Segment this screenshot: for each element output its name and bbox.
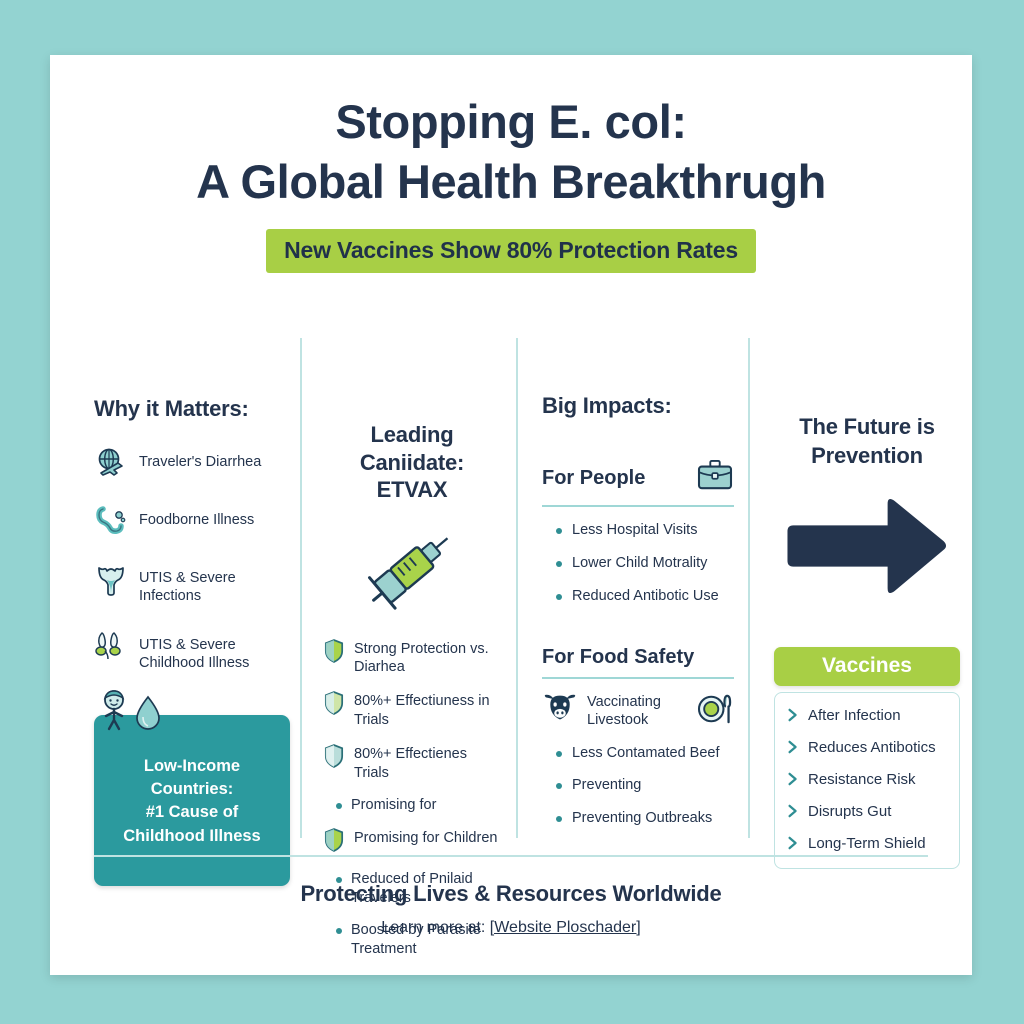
list-item: Preventing Outbreaks [542, 809, 734, 828]
column-leading-candidate: Leading Caniidate: ETVAX [300, 338, 516, 838]
footer-learn-more: Learn more at: [Website Ploschader] [94, 919, 928, 937]
cow-icon [542, 693, 578, 728]
vaccines-card: After Infection Reduces Antibotics Resis… [774, 692, 960, 869]
bullet-dot-icon [556, 561, 562, 567]
list-item: Less Contamated Beef [542, 744, 734, 763]
why-it-matters-heading: Why it Matters: [94, 396, 282, 422]
future-heading: The Future is Prevention [774, 413, 960, 470]
future-heading-line1: The Future is [774, 413, 960, 442]
list-item[interactable]: Disrupts Gut [787, 803, 949, 824]
list-item-label: 80%+ Effectiuness in Trials [354, 691, 500, 730]
shield-icon [324, 828, 344, 857]
footer-learn-more-prefix: Learn more at: [381, 919, 490, 936]
chevron-right-icon [787, 707, 799, 728]
callout-line2: #1 Cause of [108, 801, 276, 824]
list-item-label: Less Contamated Beef [572, 744, 720, 763]
syringe-illustration [324, 516, 500, 625]
list-item-label: Resistance Risk [808, 771, 916, 789]
chevron-right-icon [787, 771, 799, 792]
leading-candidate-heading: Leading Caniidate: ETVAX [324, 421, 500, 504]
list-item[interactable]: Reduces Antibotics [787, 739, 949, 760]
list-item-label: Vaccinating Livestook [587, 693, 687, 730]
content-columns: Why it Matters: Traveler's Diarrhea [50, 338, 972, 838]
callout-line1: Low-Income Countries: [108, 755, 276, 802]
for-food-safety-heading: For Food Safety [542, 646, 734, 669]
column-why-it-matters: Why it Matters: Traveler's Diarrhea [50, 338, 300, 838]
right-arrow-icon [783, 492, 951, 605]
list-item-label: Disrupts Gut [808, 803, 891, 821]
plate-fork-icon [696, 693, 734, 730]
bullet-dot-icon [556, 528, 562, 534]
subtitle-banner: New Vaccines Show 80% Protection Rates [50, 229, 972, 273]
list-item: Promising for Children [324, 828, 500, 857]
list-item: Reduced Antibotic Use [542, 587, 734, 606]
list-item: Foodborne Illness [94, 504, 282, 538]
list-item: 80%+ Effectiuness in Trials [324, 691, 500, 730]
bladder-icon [94, 562, 128, 596]
list-item[interactable]: After Infection [787, 707, 949, 728]
vaccines-badge: Vaccines [774, 647, 960, 686]
list-item: Strong Protection vs. Diarhea [324, 639, 500, 678]
callout-icons [98, 689, 162, 738]
water-drop-icon [134, 695, 162, 738]
page-title-line1: Stopping E. col: [50, 97, 972, 147]
list-item-label: Lower Child Motrality [572, 554, 707, 573]
leading-candidate-heading-line2: ETVAX [324, 476, 500, 504]
globe-plane-icon [94, 446, 128, 480]
list-item: Less Hospital Visits [542, 521, 734, 540]
list-item-label: Reduces Antibotics [808, 739, 936, 757]
column-future-is-prevention: The Future is Prevention Vaccines After … [748, 338, 972, 838]
bullet-dot-icon [556, 751, 562, 757]
arrow-illustration [774, 492, 960, 605]
list-item-label: Less Hospital Visits [572, 521, 697, 540]
syringe-icon [360, 516, 464, 625]
footer-divider [94, 855, 928, 857]
list-item: 80%+ Effectienes Trials [324, 744, 500, 783]
list-item-label: Foodborne Illness [139, 504, 254, 529]
subtitle-text: New Vaccines Show 80% Protection Rates [266, 229, 756, 273]
list-item: Preventing [542, 776, 734, 795]
header: Stopping E. col: A Global Health Breakth… [50, 55, 972, 273]
list-item-label: 80%+ Effectienes Trials [354, 744, 500, 783]
chevron-right-icon [787, 835, 799, 856]
list-item: Promising for [324, 796, 500, 815]
page-title-line2: A Global Health Breakthrugh [50, 157, 972, 207]
list-item-label: Preventing [572, 776, 641, 795]
shield-icon [324, 639, 344, 668]
callout-line3: Childhood Illness [108, 825, 276, 848]
shield-icon [324, 691, 344, 720]
list-item-label: Promising for Children [354, 828, 497, 848]
list-item: Traveler's Diarrhea [94, 446, 282, 480]
bullet-dot-icon [556, 816, 562, 822]
list-item: Lower Child Motrality [542, 554, 734, 573]
for-people-heading: For People [542, 459, 734, 497]
infographic-card: Stopping E. col: A Global Health Breakth… [50, 55, 972, 975]
list-item-label: Promising for [351, 796, 436, 815]
kidneys-icon [94, 629, 128, 663]
list-item: UTIS & Severe Infections [94, 562, 282, 605]
for-people-title: For People [542, 467, 645, 490]
divider [542, 505, 734, 507]
footer: Protecting Lives & Resources Worldwide L… [94, 855, 928, 937]
list-item[interactable]: Resistance Risk [787, 771, 949, 792]
bullet-dot-icon [556, 594, 562, 600]
stomach-icon [94, 504, 128, 538]
list-item-label: Long-Term Shield [808, 835, 926, 853]
future-heading-line2: Prevention [774, 442, 960, 471]
list-item-label: Traveler's Diarrhea [139, 446, 261, 471]
footer-website-link[interactable]: [Website Ploschader] [490, 919, 641, 936]
chevron-right-icon [787, 739, 799, 760]
chevron-right-icon [787, 803, 799, 824]
list-item-label: Strong Protection vs. Diarhea [354, 639, 500, 678]
column-big-impacts: Big Impacts: For People Less Hospital Vi… [516, 338, 748, 838]
list-item: UTIS & Severe Childhood Illness [94, 629, 282, 672]
leading-candidate-heading-line1: Leading Caniidate: [324, 421, 500, 476]
footer-tagline: Protecting Lives & Resources Worldwide [94, 881, 928, 907]
bullet-dot-icon [336, 803, 342, 809]
divider [542, 677, 734, 679]
big-impacts-heading: Big Impacts: [542, 393, 734, 419]
list-item-label: UTIS & Severe Infections [139, 562, 282, 605]
list-item-label: Preventing Outbreaks [572, 809, 712, 828]
briefcase-icon [696, 459, 734, 497]
list-item: Vaccinating Livestook [542, 693, 734, 730]
child-icon [98, 689, 130, 738]
list-item-label: Reduced Antibotic Use [572, 587, 719, 606]
list-item[interactable]: Long-Term Shield [787, 835, 949, 856]
list-item-label: After Infection [808, 707, 901, 725]
for-food-safety-title: For Food Safety [542, 646, 694, 669]
list-item-label: UTIS & Severe Childhood Illness [139, 629, 282, 672]
shield-icon [324, 744, 344, 773]
bullet-dot-icon [556, 783, 562, 789]
